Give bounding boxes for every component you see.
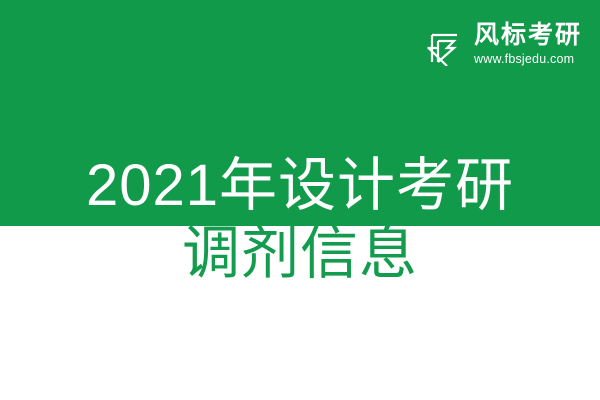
- headline: 2021年设计考研 调剂信息: [0, 152, 600, 288]
- brand-text-block: 风标考研 www.fbsjedu.com: [474, 22, 582, 66]
- promo-banner: 风标考研 www.fbsjedu.com 2021年设计考研 调剂信息: [0, 0, 600, 400]
- brand-name: 风标考研: [474, 22, 582, 49]
- brand-url: www.fbsjedu.com: [474, 53, 574, 67]
- headline-line-2: 调剂信息: [0, 220, 600, 288]
- fb-monogram-icon: [427, 22, 465, 66]
- brand-lockup[interactable]: 风标考研 www.fbsjedu.com: [427, 22, 582, 66]
- headline-line-1: 2021年设计考研: [0, 152, 600, 220]
